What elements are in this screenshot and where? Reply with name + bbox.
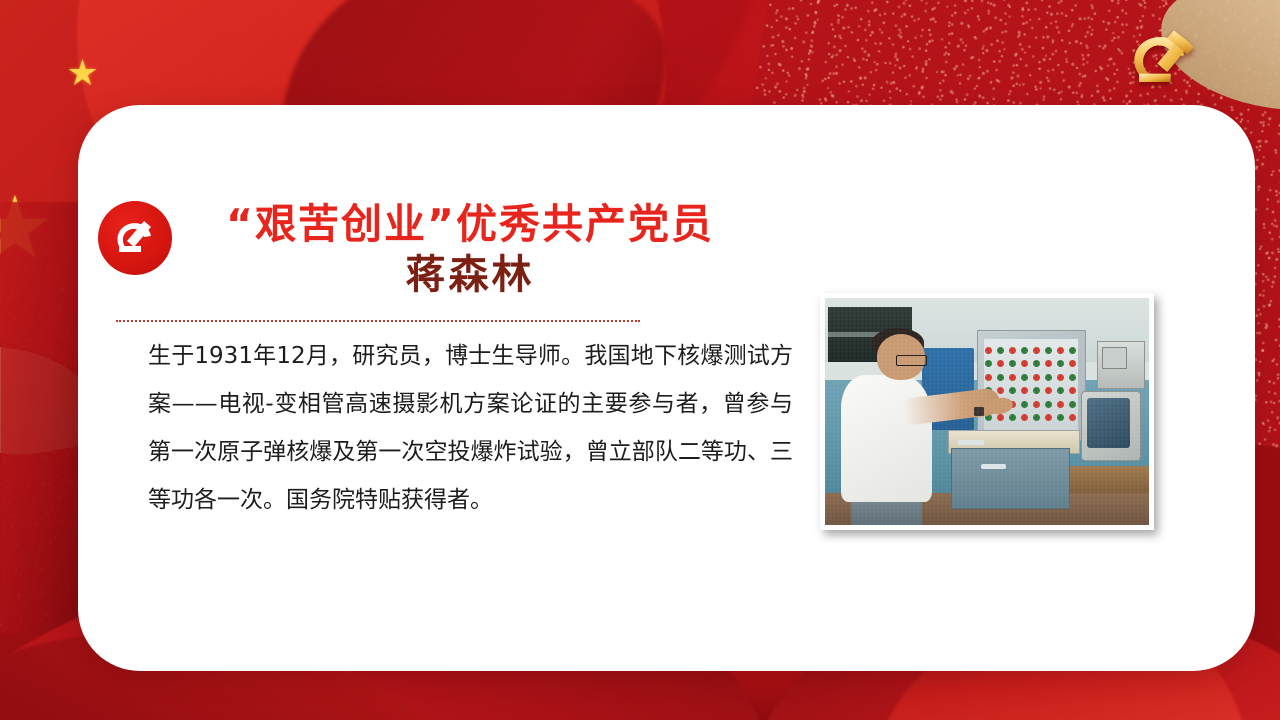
party-badge-hammer-sickle-icon [98,201,172,275]
flag-star-small-1: ★ [66,55,98,91]
title-block: “艰苦创业”优秀共产党员 蒋森林 [190,200,750,300]
dotted-divider [116,320,640,322]
portrait-photo [825,298,1149,525]
slide-root: ★ ★ ★ ★ ★ [0,0,1280,720]
silk-fold-left-column [0,202,86,634]
page-title-primary: “艰苦创业”优秀共产党员 [190,200,750,248]
biography-text: 生于1931年12月，研究员，博士生导师。我国地下核爆测试方案——电视-变相管高… [148,332,793,524]
portrait-photo-frame [820,293,1154,530]
gold-hammer-and-sickle-icon [1122,22,1206,92]
page-title-name: 蒋森林 [190,250,750,300]
